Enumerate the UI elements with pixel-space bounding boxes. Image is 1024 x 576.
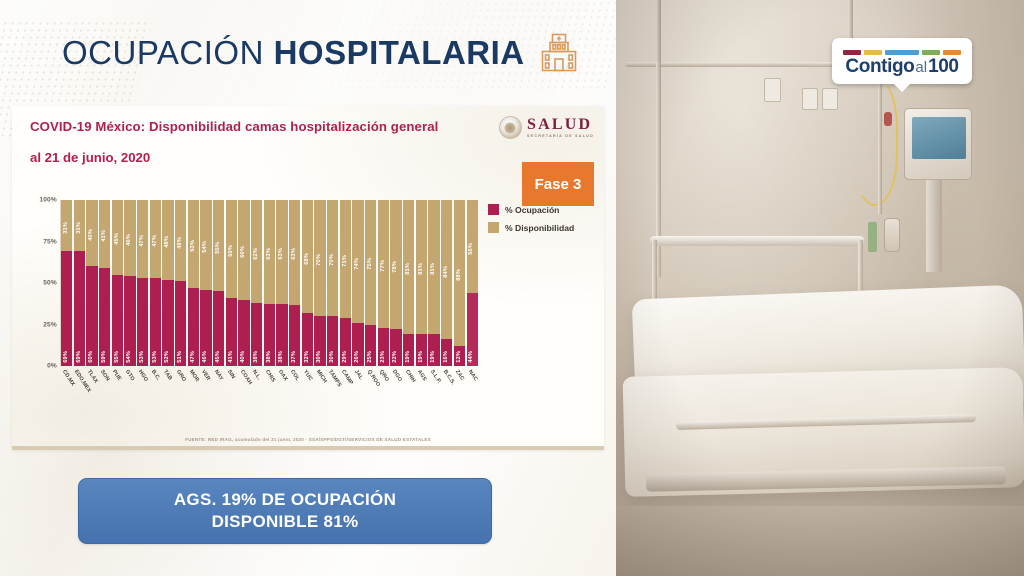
bar-value-disponibilidad: 63% <box>267 248 273 260</box>
x-axis-tick-label: CHIS <box>264 369 276 383</box>
bar-segment-ocupacion: 26% <box>352 323 363 366</box>
bar-segment-ocupacion: 40% <box>238 300 249 366</box>
bar-segment-disponibilidad: 84% <box>441 200 452 339</box>
bar-value-disponibilidad: 63% <box>279 248 285 260</box>
bar-segment-disponibilidad: 81% <box>403 200 414 334</box>
x-axis-tick: COL <box>289 368 300 410</box>
x-axis-tick: EDO.MEX <box>73 368 84 410</box>
x-axis-tick-label: TAB <box>162 369 173 381</box>
salud-logo: SALUD SECRETARÍA DE SALUD <box>499 116 594 139</box>
bar-value-ocupacion: 30% <box>330 351 336 363</box>
bar-value-disponibilidad: 77% <box>381 260 387 272</box>
bar-value-disponibilidad: 74% <box>355 258 361 270</box>
x-axis-tick-label: AGS <box>416 369 428 382</box>
bar-value-disponibilidad: 84% <box>444 266 450 278</box>
bar-column: 88%12% <box>454 200 465 366</box>
bar-segment-disponibilidad: 46% <box>124 200 135 276</box>
legend-label: % Ocupación <box>505 205 559 215</box>
bar-value-ocupacion: 69% <box>64 351 70 363</box>
bar-value-ocupacion: 38% <box>279 351 285 363</box>
bar-segment-ocupacion: 38% <box>251 303 262 366</box>
bar-segment-disponibilidad: 48% <box>162 200 173 280</box>
bar-value-disponibilidad: 70% <box>317 254 323 266</box>
bar-value-ocupacion: 53% <box>153 351 159 363</box>
hospital-icon <box>539 32 579 74</box>
page-title-bold: HOSPITALARIA <box>274 34 525 71</box>
bar-value-ocupacion: 44% <box>469 351 475 363</box>
x-axis-tick: YUC <box>301 368 312 410</box>
bar-segment-ocupacion: 22% <box>390 329 401 366</box>
x-axis-tick: NAC <box>467 368 478 410</box>
bar-segment-disponibilidad: 45% <box>112 200 123 275</box>
bar-segment-disponibilidad: 63% <box>276 200 287 304</box>
legend-label: % Disponibilidad <box>505 223 574 233</box>
bar-segment-ocupacion: 46% <box>200 290 211 366</box>
x-axis-tick: CD.MX <box>60 368 71 410</box>
presentation-slide: OCUPACIÓN HOSPITALARIA COVID-1 <box>0 0 616 576</box>
mexico-seal-icon <box>499 116 522 139</box>
bar-column: 54%46% <box>200 200 211 366</box>
x-axis-tick-label: DGO <box>391 369 403 383</box>
bar-segment-ocupacion: 38% <box>276 304 287 366</box>
bar-segment-disponibilidad: 47% <box>137 200 148 278</box>
logo-color-bars <box>843 50 961 55</box>
bar-column: 46%54% <box>124 200 135 366</box>
bar-value-ocupacion: 30% <box>317 351 323 363</box>
bar-value-disponibilidad: 78% <box>393 261 399 273</box>
bar-column: 56%44% <box>467 200 478 366</box>
bar-column: 77%23% <box>378 200 389 366</box>
bar-segment-disponibilidad: 74% <box>352 200 363 323</box>
bar-column: 71%29% <box>340 200 351 366</box>
bar-column: 53%47% <box>188 200 199 366</box>
x-axis-tick: N.L. <box>251 368 262 410</box>
bar-value-disponibilidad: 47% <box>140 235 146 247</box>
status-banner: AGS. 19% DE OCUPACIÓN DISPONIBLE 81% <box>78 478 492 544</box>
bar-column: 41%59% <box>99 200 110 366</box>
logo-word-contigo: Contigo <box>845 57 914 76</box>
bar-value-disponibilidad: 81% <box>419 263 425 275</box>
bar-value-ocupacion: 47% <box>191 351 197 363</box>
bar-column: 81%19% <box>428 200 439 366</box>
legend-swatch <box>488 204 499 215</box>
logo-color-bar <box>843 50 861 55</box>
x-axis-tick-label: NAY <box>213 369 224 382</box>
x-axis-tick: MOR <box>187 368 198 410</box>
legend-item: % Disponibilidad <box>488 222 574 233</box>
bar-value-disponibilidad: 71% <box>343 255 349 267</box>
bar-segment-disponibilidad: 54% <box>200 200 211 290</box>
bar-column: 62%38% <box>251 200 262 366</box>
bar-segment-ocupacion: 19% <box>416 334 427 366</box>
bar-value-ocupacion: 59% <box>102 351 108 363</box>
bar-value-disponibilidad: 55% <box>216 242 222 254</box>
bar-value-disponibilidad: 54% <box>203 241 209 253</box>
bar-segment-disponibilidad: 81% <box>428 200 439 334</box>
chart-subtitle: al 21 de junio, 2020 <box>30 150 500 165</box>
status-banner-line2: DISPONIBLE 81% <box>212 512 359 532</box>
logo-color-bar <box>943 50 961 55</box>
x-axis-tick-label: SON <box>99 369 111 382</box>
bar-segment-ocupacion: 12% <box>454 346 465 366</box>
bar-value-ocupacion: 37% <box>292 351 298 363</box>
bar-segment-ocupacion: 55% <box>112 275 123 366</box>
x-axis-tick: ZAC <box>454 368 465 410</box>
bar-column: 31%69% <box>74 200 85 366</box>
x-axis-tick-label: ZAC <box>454 369 465 382</box>
hospital-room-photo <box>616 0 1024 576</box>
bar-value-ocupacion: 60% <box>89 351 95 363</box>
x-axis-tick: MICH <box>314 368 325 410</box>
chart-legend: % Ocupación% Disponibilidad <box>488 204 574 233</box>
bar-value-ocupacion: 51% <box>178 351 184 363</box>
chart-title: COVID-19 México: Disponibilidad camas ho… <box>30 118 500 136</box>
bar-segment-disponibilidad: 59% <box>226 200 237 298</box>
bar-column: 68%32% <box>302 200 313 366</box>
bar-segment-disponibilidad: 49% <box>175 200 186 281</box>
x-axis-tick-label: CHIH <box>404 369 416 384</box>
bar-segment-disponibilidad: 70% <box>327 200 338 316</box>
x-axis-tick-label: NAC <box>467 369 479 382</box>
bar-segment-ocupacion: 16% <box>441 339 452 366</box>
bar-segment-ocupacion: 37% <box>289 305 300 366</box>
bar-value-ocupacion: 55% <box>115 351 121 363</box>
bar-segment-disponibilidad: 78% <box>390 200 401 329</box>
bar-segment-disponibilidad: 88% <box>454 200 465 346</box>
y-axis: 0%25%50%75%100% <box>30 200 60 366</box>
bar-segment-ocupacion: 32% <box>302 313 313 366</box>
bar-segment-disponibilidad: 53% <box>188 200 199 288</box>
x-axis-tick: TAB <box>162 368 173 410</box>
bar-column: 48%52% <box>162 200 173 366</box>
x-axis-tick: SON <box>98 368 109 410</box>
bar-column: 47%53% <box>137 200 148 366</box>
bar-value-disponibilidad: 70% <box>330 254 336 266</box>
x-axis-tick-label: GRO <box>175 369 187 383</box>
bar-value-disponibilidad: 63% <box>292 248 298 260</box>
bar-column: 40%60% <box>86 200 97 366</box>
bar-segment-disponibilidad: 55% <box>213 200 224 291</box>
x-axis-tick: NAY <box>212 368 223 410</box>
contigo-al-100-logo: Contigo al 100 <box>832 38 972 84</box>
bar-segment-disponibilidad: 56% <box>467 200 478 293</box>
bar-value-disponibilidad: 68% <box>305 253 311 265</box>
bar-segment-ocupacion: 53% <box>150 278 161 366</box>
bar-value-ocupacion: 38% <box>267 351 273 363</box>
x-axis-tick: HGO <box>136 368 147 410</box>
bar-value-ocupacion: 69% <box>77 351 83 363</box>
bar-segment-ocupacion: 30% <box>327 316 338 366</box>
logo-color-bar <box>922 50 940 55</box>
bar-segment-disponibilidad: 77% <box>378 200 389 328</box>
bar-segment-disponibilidad: 75% <box>365 200 376 325</box>
bar-segment-ocupacion: 19% <box>403 334 414 366</box>
bar-segment-ocupacion: 45% <box>213 291 224 366</box>
bar-column: 45%55% <box>112 200 123 366</box>
bar-column: 70%30% <box>314 200 325 366</box>
bar-value-ocupacion: 22% <box>393 351 399 363</box>
logo-word-100: 100 <box>928 57 959 76</box>
bar-column: 63%37% <box>289 200 300 366</box>
bar-value-disponibilidad: 56% <box>469 243 475 255</box>
bar-value-ocupacion: 52% <box>165 351 171 363</box>
bar-value-ocupacion: 38% <box>254 351 260 363</box>
x-axis-tick: CHIH <box>403 368 414 410</box>
bar-segment-disponibilidad: 40% <box>86 200 97 266</box>
x-axis-tick: JAL <box>352 368 363 410</box>
bar-value-ocupacion: 53% <box>140 351 146 363</box>
logo-word-al: al <box>915 60 927 75</box>
x-axis-tick: S.L.P. <box>428 368 439 410</box>
bar-column: 74%26% <box>352 200 363 366</box>
logo-color-bar <box>885 50 919 55</box>
bar-value-ocupacion: 26% <box>355 351 361 363</box>
x-axis-tick: TLAX <box>85 368 96 410</box>
bar-column: 59%41% <box>226 200 237 366</box>
bar-segment-ocupacion: 38% <box>264 304 275 366</box>
x-axis-tick: GRO <box>174 368 185 410</box>
bar-segment-disponibilidad: 47% <box>150 200 161 278</box>
x-axis-tick: COAH <box>238 368 249 410</box>
bar-value-ocupacion: 23% <box>381 351 387 363</box>
y-axis-tick: 50% <box>43 280 57 287</box>
x-axis-tick-label: JAL <box>353 369 364 381</box>
bar-value-disponibilidad: 88% <box>457 269 463 281</box>
x-axis-tick: PUE <box>111 368 122 410</box>
bar-value-disponibilidad: 59% <box>229 245 235 257</box>
bar-value-disponibilidad: 49% <box>178 237 184 249</box>
bar-segment-ocupacion: 59% <box>99 268 110 366</box>
bar-column: 81%19% <box>416 200 427 366</box>
bar-value-ocupacion: 54% <box>127 351 133 363</box>
page-title-light: OCUPACIÓN <box>62 34 264 71</box>
x-axis-tick-label: TLAX <box>86 369 99 384</box>
bar-value-ocupacion: 16% <box>444 351 450 363</box>
bar-segment-ocupacion: 41% <box>226 298 237 366</box>
x-axis-tick: B.C. <box>149 368 160 410</box>
bar-value-ocupacion: 46% <box>203 351 209 363</box>
logo-color-bar <box>864 50 882 55</box>
bar-value-ocupacion: 19% <box>406 351 412 363</box>
bar-value-ocupacion: 29% <box>343 351 349 363</box>
bar-segment-ocupacion: 52% <box>162 280 173 366</box>
bar-segment-disponibilidad: 31% <box>74 200 85 251</box>
slide-header: OCUPACIÓN HOSPITALARIA <box>0 0 616 106</box>
x-axis-tick-label: PUE <box>111 369 122 382</box>
x-axis-tick-label: QRO <box>378 369 390 383</box>
x-axis-tick: TAMPS <box>327 368 338 410</box>
x-axis-labels: CD.MXEDO.MEXTLAXSONPUEGTOHGOB.C.TABGROMO… <box>60 368 478 410</box>
chart-bars: 31%69%31%69%40%60%41%59%45%55%46%54%47%5… <box>60 200 478 366</box>
chart-heading: COVID-19 México: Disponibilidad camas ho… <box>30 118 500 165</box>
page-title: OCUPACIÓN HOSPITALARIA <box>62 34 525 72</box>
bar-column: 47%53% <box>150 200 161 366</box>
bar-column: 81%19% <box>403 200 414 366</box>
bar-column: 31%69% <box>61 200 72 366</box>
bar-segment-disponibilidad: 41% <box>99 200 110 268</box>
bar-value-disponibilidad: 40% <box>89 229 95 241</box>
x-axis-tick-label: YUC <box>302 369 313 382</box>
x-axis-tick-label: OAX <box>277 369 289 382</box>
x-axis-tick-label: SIN <box>226 369 236 380</box>
bar-column: 60%40% <box>238 200 249 366</box>
y-axis-tick: 100% <box>39 197 57 204</box>
x-axis-tick: B.C.S. <box>441 368 452 410</box>
chart-card-bottom-rule <box>12 446 604 450</box>
bar-value-disponibilidad: 31% <box>77 222 83 234</box>
chart-plot-area: 0%25%50%75%100% 31%69%31%69%40%60%41%59%… <box>30 200 478 384</box>
x-axis-tick: Q.ROO <box>365 368 376 410</box>
bar-value-disponibilidad: 81% <box>406 263 412 275</box>
bar-segment-ocupacion: 69% <box>74 251 85 366</box>
bar-column: 84%16% <box>441 200 452 366</box>
y-axis-tick: 75% <box>43 238 57 245</box>
bar-value-disponibilidad: 75% <box>368 258 374 270</box>
fase-badge: Fase 3 <box>522 162 594 206</box>
bar-value-disponibilidad: 47% <box>153 235 159 247</box>
bar-segment-disponibilidad: 63% <box>289 200 300 305</box>
x-axis-tick-label: COL <box>289 369 300 382</box>
bar-segment-ocupacion: 69% <box>61 251 72 366</box>
salud-name: SALUD <box>527 117 594 133</box>
bar-segment-ocupacion: 53% <box>137 278 148 366</box>
chart-card: COVID-19 México: Disponibilidad camas ho… <box>12 106 604 450</box>
x-axis-tick-label: MOR <box>188 369 200 383</box>
bar-column: 63%38% <box>264 200 275 366</box>
bar-segment-ocupacion: 51% <box>175 281 186 366</box>
bar-segment-disponibilidad: 62% <box>251 200 262 303</box>
bar-segment-ocupacion: 30% <box>314 316 325 366</box>
bar-value-disponibilidad: 48% <box>165 236 171 248</box>
x-axis-tick-label: HGO <box>137 369 149 383</box>
bar-segment-ocupacion: 19% <box>428 334 439 366</box>
x-axis-tick: CHIS <box>263 368 274 410</box>
bar-column: 63%38% <box>276 200 287 366</box>
bar-segment-ocupacion: 23% <box>378 328 389 366</box>
x-axis-tick: QRO <box>378 368 389 410</box>
x-axis-tick-label: N.L. <box>251 369 262 381</box>
x-axis-tick: VER <box>200 368 211 410</box>
x-axis-tick: AGS <box>416 368 427 410</box>
bar-segment-disponibilidad: 70% <box>314 200 325 316</box>
y-axis-tick: 0% <box>47 363 57 370</box>
bar-value-ocupacion: 19% <box>431 351 437 363</box>
bar-value-ocupacion: 40% <box>241 351 247 363</box>
salud-subtitle: SECRETARÍA DE SALUD <box>527 135 594 139</box>
bar-value-disponibilidad: 53% <box>191 240 197 252</box>
bar-value-disponibilidad: 46% <box>127 234 133 246</box>
bar-value-ocupacion: 19% <box>419 351 425 363</box>
legend-swatch <box>488 222 499 233</box>
y-axis-tick: 25% <box>43 321 57 328</box>
bar-segment-ocupacion: 25% <box>365 325 376 367</box>
bar-segment-disponibilidad: 31% <box>61 200 72 251</box>
bar-value-ocupacion: 41% <box>229 351 235 363</box>
bar-value-ocupacion: 32% <box>305 351 311 363</box>
x-axis-tick: OAX <box>276 368 287 410</box>
legend-item: % Ocupación <box>488 204 574 215</box>
bar-segment-ocupacion: 29% <box>340 318 351 366</box>
bar-value-disponibilidad: 45% <box>115 233 121 245</box>
logo-wordmark: Contigo al 100 <box>845 57 958 76</box>
bar-value-ocupacion: 25% <box>368 351 374 363</box>
bar-segment-disponibilidad: 68% <box>302 200 313 313</box>
bar-value-disponibilidad: 31% <box>64 222 70 234</box>
x-axis-tick-label: GTO <box>124 369 136 382</box>
bar-value-disponibilidad: 41% <box>102 230 108 242</box>
bar-segment-disponibilidad: 60% <box>238 200 249 300</box>
x-axis-tick: GTO <box>124 368 135 410</box>
x-axis-tick-label: VER <box>200 369 211 382</box>
bar-segment-ocupacion: 60% <box>86 266 97 366</box>
bar-value-disponibilidad: 81% <box>431 263 437 275</box>
bar-value-ocupacion: 45% <box>216 351 222 363</box>
bar-value-disponibilidad: 62% <box>254 248 260 260</box>
bar-column: 78%22% <box>390 200 401 366</box>
status-banner-line1: AGS. 19% DE OCUPACIÓN <box>174 490 396 510</box>
bar-column: 55%45% <box>213 200 224 366</box>
bar-segment-ocupacion: 47% <box>188 288 199 366</box>
bar-segment-disponibilidad: 63% <box>264 200 275 304</box>
bar-value-ocupacion: 12% <box>457 351 463 363</box>
bar-value-disponibilidad: 60% <box>241 246 247 258</box>
bar-segment-ocupacion: 44% <box>467 293 478 366</box>
bar-segment-disponibilidad: 81% <box>416 200 427 334</box>
bar-segment-ocupacion: 54% <box>124 276 135 366</box>
x-axis-tick-label: MICH <box>315 369 328 384</box>
x-axis-tick: CAMP <box>339 368 350 410</box>
x-axis-tick: DGO <box>390 368 401 410</box>
photo-vignette <box>616 0 1024 576</box>
bar-column: 49%51% <box>175 200 186 366</box>
chart-source-note: FUENTE: RED IRAG, acumulado del 21 junio… <box>12 437 604 442</box>
x-axis-tick: SIN <box>225 368 236 410</box>
bar-column: 70%30% <box>327 200 338 366</box>
salud-wordmark: SALUD SECRETARÍA DE SALUD <box>527 117 594 139</box>
bar-column: 75%25% <box>365 200 376 366</box>
bar-segment-disponibilidad: 71% <box>340 200 351 318</box>
x-axis-tick-label: B.C. <box>150 369 161 382</box>
